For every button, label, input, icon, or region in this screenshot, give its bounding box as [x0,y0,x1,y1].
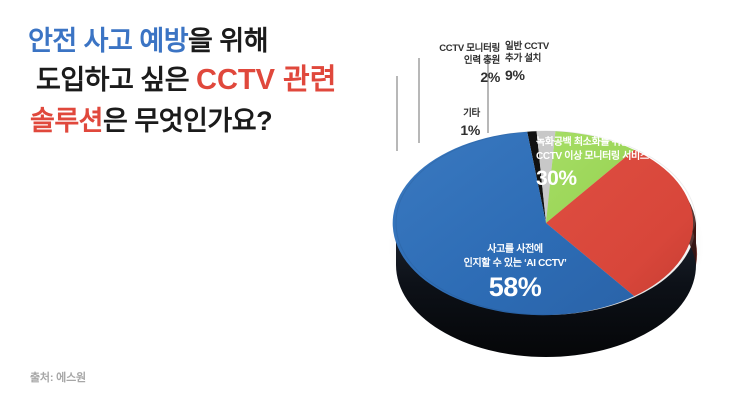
headline-line-3-rest: 은 무엇인가요? [103,106,272,136]
callout-other-percent: 1% [404,122,480,140]
slice-label-ai-cctv-percent: 58% [410,272,620,303]
callout-staffing-line-1: CCTV 모니터링 [396,43,500,55]
slice-label-ai-cctv: 사고를 사전에 인지할 수 있는 ‘AI CCTV’ 58% [410,243,620,303]
callout-staffing-line-2: 인력 충원 [396,55,500,67]
slice-label-monitoring-service-line-1: 녹화공백 최소화를 위한 [536,136,649,150]
headline-line-2: 도입하고 싶은 CCTV 관련 [28,60,428,101]
slice-label-ai-cctv-line-2: 인지할 수 있는 ‘AI CCTV’ [410,257,620,271]
headline-line-1: 안전 사고 예방을 위해 [28,22,428,60]
source-credit: 출처: 에스원 [30,369,86,385]
headline-line-3: 솔루션은 무엇인가요? [28,102,428,140]
callout-other: 기타 1% [404,108,480,140]
callout-additional-cctv-line-1: 일반 CCTV [505,41,609,53]
callout-additional-cctv: 일반 CCTV 추가 설치 9% [505,41,609,85]
callout-additional-cctv-percent: 9% [505,67,609,85]
headline-line-2-accent: CCTV 관련 [196,64,336,96]
slice-label-monitoring-service-percent: 30% [536,167,649,191]
headline-line-2-rest: 도입하고 싶은 [36,65,196,95]
callout-additional-cctv-line-2: 추가 설치 [505,53,609,65]
headline-line-1-rest: 을 위해 [188,26,268,56]
slice-label-monitoring-service-line-2: CCTV 이상 모니터링 서비스 [536,150,649,164]
callout-staffing-percent: 2% [396,69,500,87]
infographic-slide: 안전 사고 예방을 위해 도입하고 싶은 CCTV 관련 솔루션은 무엇인가요?… [0,0,730,410]
headline-line-3-accent: 솔루션 [30,106,103,136]
callout-other-line-1: 기타 [404,108,480,120]
page-title: 안전 사고 예방을 위해 도입하고 싶은 CCTV 관련 솔루션은 무엇인가요? [28,22,428,140]
slice-label-ai-cctv-line-1: 사고를 사전에 [410,243,620,257]
slice-label-monitoring-service: 녹화공백 최소화를 위한 CCTV 이상 모니터링 서비스 30% [536,136,649,191]
headline-line-1-accent: 안전 사고 예방 [28,26,188,56]
callout-staffing: CCTV 모니터링 인력 충원 2% [396,43,500,87]
